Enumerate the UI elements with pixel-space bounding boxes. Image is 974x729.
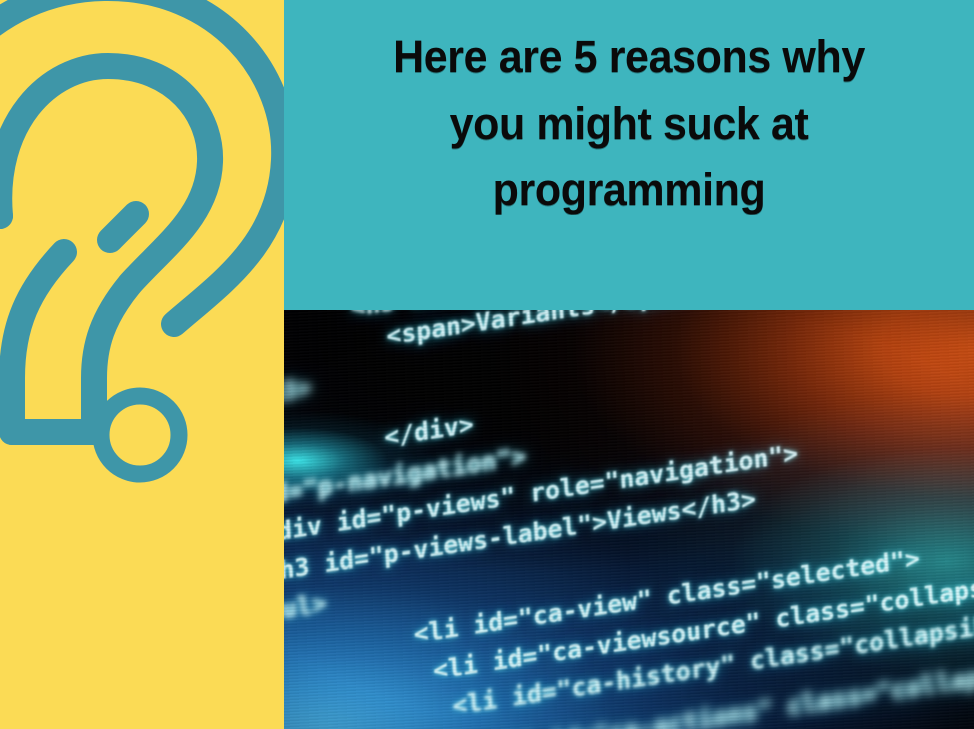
headline-line: Here are 5 reasons why [310, 24, 948, 91]
left-yellow-panel [0, 0, 284, 729]
headline-line: you might suck at [310, 91, 948, 158]
poster-canvas: Here are 5 reasons whyyou might suck atp… [0, 0, 974, 729]
blue-glow-bottom [284, 310, 974, 729]
page-title: Here are 5 reasons whyyou might suck atp… [310, 24, 948, 224]
code-photo: <h3 id="p-variants-label"><span>Variants… [284, 310, 974, 729]
headline-line: programming [310, 157, 948, 224]
question-mark-icon [0, 0, 284, 514]
headline-panel: Here are 5 reasons whyyou might suck atp… [284, 0, 974, 310]
